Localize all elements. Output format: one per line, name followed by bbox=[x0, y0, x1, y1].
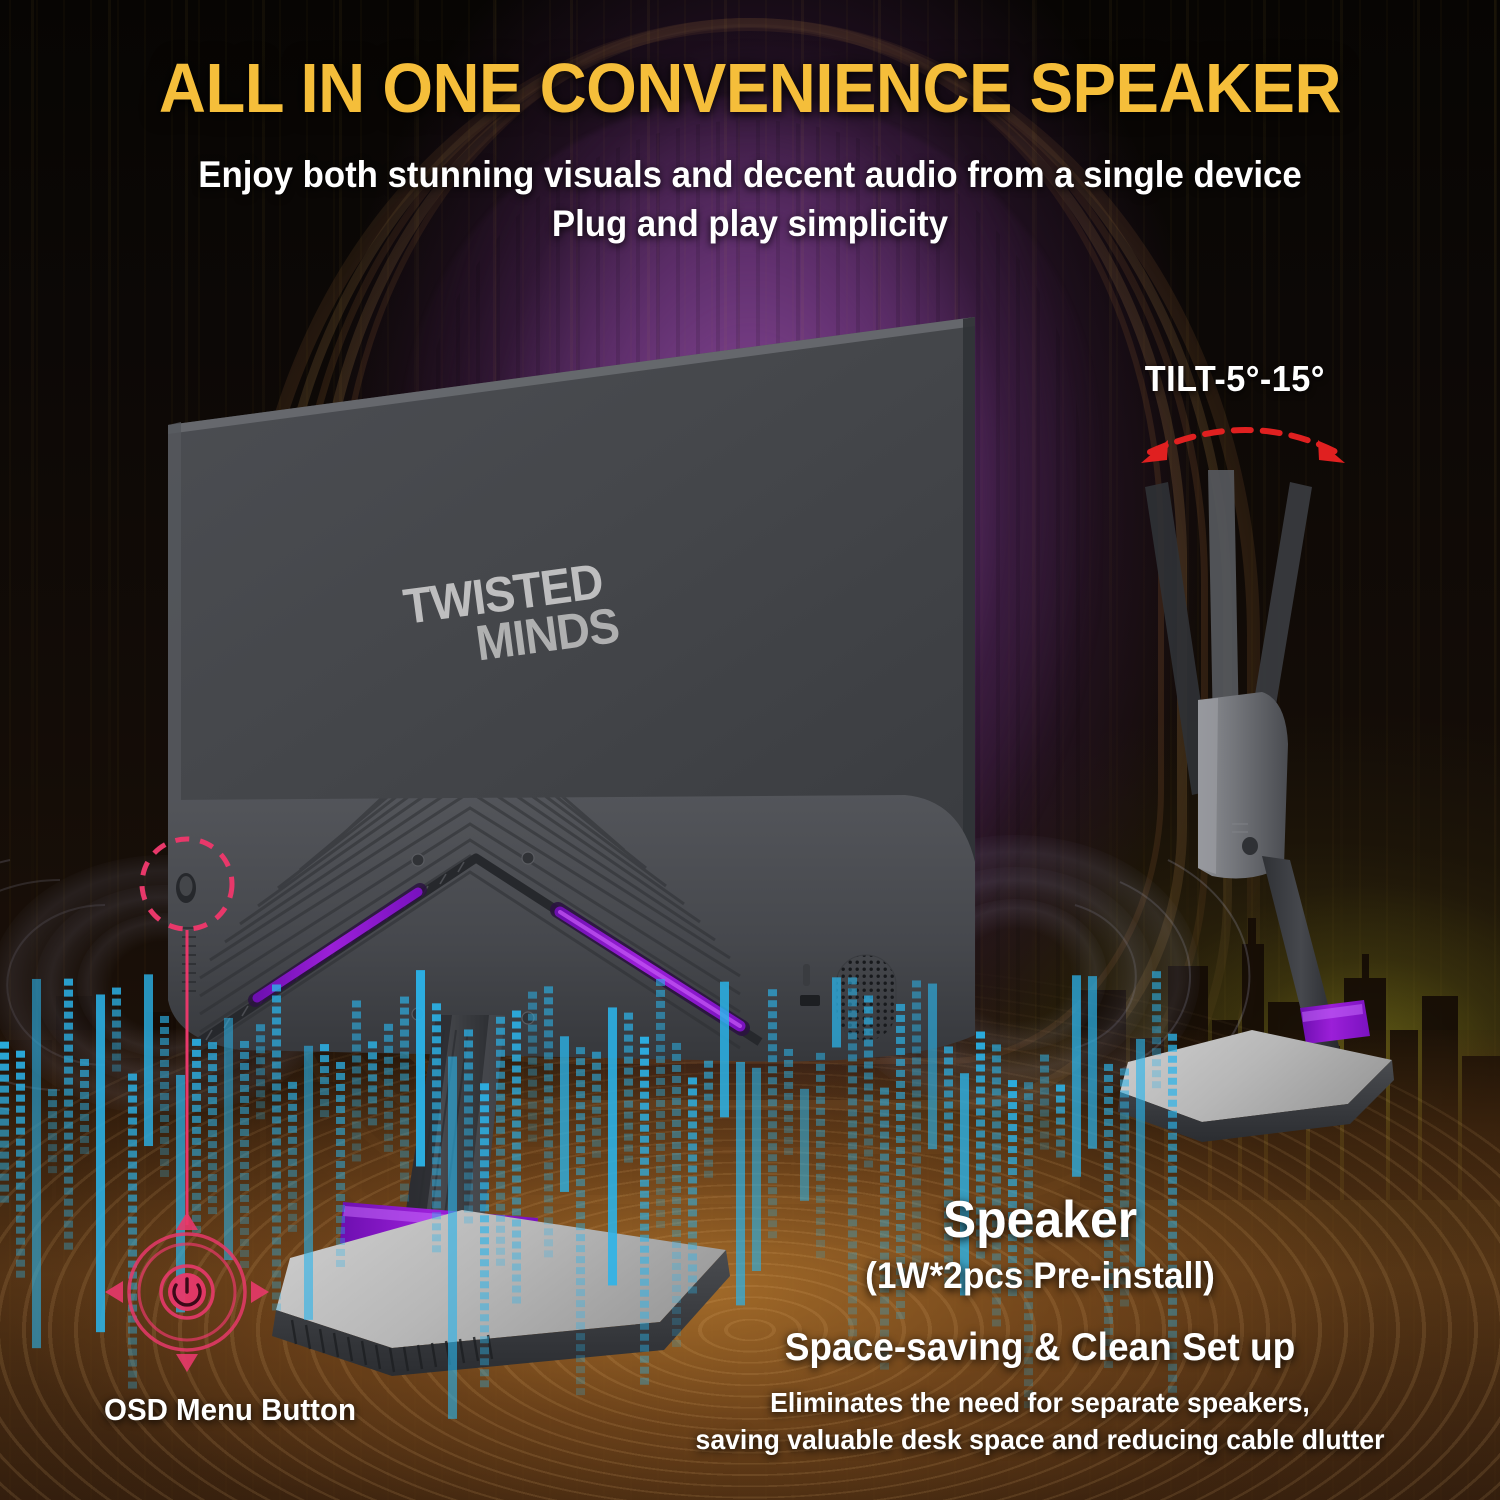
subheadline: Enjoy both stunning visuals and decent a… bbox=[45, 150, 1455, 248]
monitor-port bbox=[800, 995, 820, 1006]
speaker-benefit-head: Space-saving & Clean Set up bbox=[622, 1322, 1458, 1374]
tilt-label: TILT-5°-15° bbox=[1145, 358, 1325, 400]
osd-menu-button-label: OSD Menu Button bbox=[69, 1392, 392, 1428]
page-title: ALL IN ONE CONVENIENCE SPEAKER bbox=[53, 48, 1448, 128]
side-osd-joystick bbox=[1242, 837, 1258, 855]
subheadline-line-2: Plug and play simplicity bbox=[45, 199, 1455, 248]
osd-arrow-down bbox=[176, 1354, 198, 1372]
osd-arrow-left bbox=[105, 1281, 123, 1303]
monitor-port-marker bbox=[803, 964, 810, 986]
tilt-arc bbox=[1150, 430, 1336, 452]
speaker-spec: (1W*2pcs Pre-install) bbox=[622, 1252, 1458, 1300]
osd-joystick-button[interactable] bbox=[176, 873, 196, 903]
osd-arrow-right bbox=[251, 1281, 269, 1303]
speaker-callout: Speaker (1W*2pcs Pre-install) Space-savi… bbox=[600, 1190, 1480, 1458]
monitor-main-rear: TWISTED MINDS bbox=[168, 317, 975, 1062]
tilt-annotation bbox=[1141, 430, 1345, 463]
product-marketing-image: TWISTED MINDS bbox=[0, 0, 1500, 1500]
speaker-benefit-line-2: saving valuable desk space and reducing … bbox=[622, 1421, 1458, 1458]
speaker-benefit-line-1: Eliminates the need for separate speaker… bbox=[622, 1384, 1458, 1421]
subheadline-line-1: Enjoy both stunning visuals and decent a… bbox=[45, 150, 1455, 199]
speaker-title: Speaker bbox=[618, 1190, 1463, 1250]
